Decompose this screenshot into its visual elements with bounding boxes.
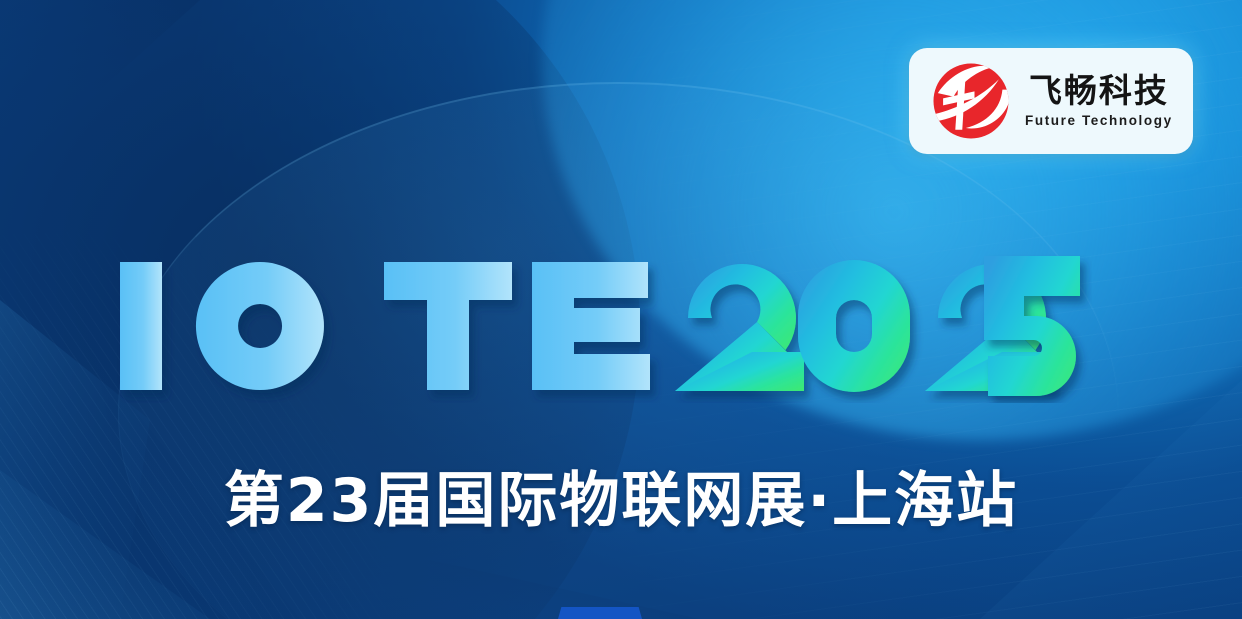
logo-company-name-en: Future Technology bbox=[1025, 113, 1173, 128]
iote-2025-banner: 飞畅科技 Future Technology bbox=[0, 0, 1242, 619]
bottom-center-tab bbox=[558, 607, 642, 619]
logo-company-name-cn: 飞畅科技 bbox=[1029, 74, 1169, 109]
year-angular-notches bbox=[112, 248, 1092, 403]
fc-globe-logo-icon bbox=[927, 60, 1015, 142]
company-logo-badge[interactable]: 飞畅科技 Future Technology bbox=[909, 48, 1193, 154]
exhibition-headline: 第23届国际物联网展·上海站 bbox=[0, 452, 1242, 539]
logo-text-block: 飞畅科技 Future Technology bbox=[1025, 74, 1173, 128]
